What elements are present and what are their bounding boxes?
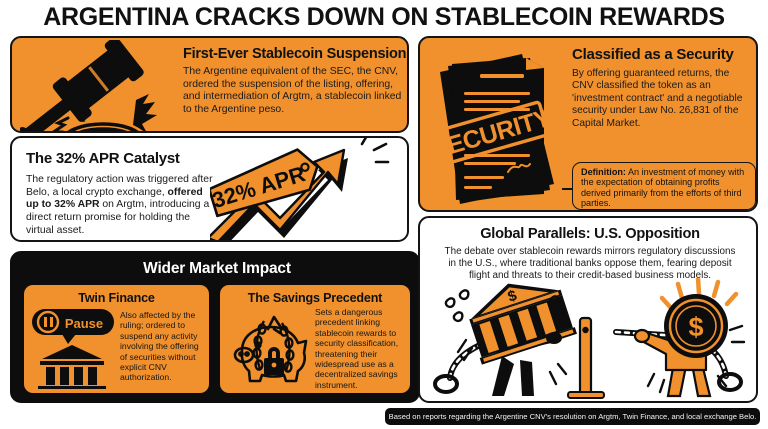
gavel-icon: AR$ [20,40,180,133]
svg-text:AR$: AR$ [86,131,120,133]
panel-body: The regulatory action was triggered afte… [26,174,216,238]
infographic-root: ARGENTINA CRACKS DOWN ON STABLECOIN REWA… [0,0,768,429]
svg-text:$: $ [506,287,520,306]
definition-text: Definition: An investment of money with … [581,167,749,209]
svg-text:$: $ [688,312,703,342]
definition-callout: Definition: An investment of money with … [572,162,756,210]
panel-body: The debate over stablecoin rewards mirro… [442,246,738,282]
bank-pause-icon: Pause [30,307,118,389]
rising-arrow-icon: 32% APR [210,138,409,242]
card-twin-finance: Twin Finance Pause [24,285,209,393]
section-heading: Wider Market Impact [12,260,420,278]
svg-text:Pause: Pause [65,316,103,331]
panel-global-parallels: Global Parallels: U.S. Opposition The de… [418,216,758,403]
panel-body: By offering guaranteed returns, the CNV … [572,68,752,130]
panel-heading: Global Parallels: U.S. Opposition [420,225,758,243]
panel-wider-market-impact: Wider Market Impact Twin Finance Pause [10,251,420,403]
svg-text:SECURITY: SECURITY [428,104,554,165]
card-body: Sets a dangerous precedent linking stabl… [315,307,405,390]
card-title: The Savings Precedent [220,291,410,305]
panel-classified-as-security: SECURITY Classified as a Security By off… [418,36,758,212]
footer-source-bar: Based on reports regarding the Argentine… [385,408,760,425]
definition-label: Definition: [581,167,626,177]
svg-text:32% APR: 32% APR [210,161,308,213]
panel-apr-catalyst: 32% APR The 32% APR Catalyst The regulat… [10,136,409,242]
chained-piggy-bank-icon [224,307,314,389]
panel-heading: The 32% APR Catalyst [26,150,180,168]
page-title: ARGENTINA CRACKS DOWN ON STABLECOIN REWA… [0,2,768,32]
panel-heading: Classified as a Security [572,46,734,64]
panel-first-ever-suspension: AR$ First-Ever Stablecoin Suspension The… [10,36,409,133]
tug-of-war-icon: $ [430,278,750,400]
security-document-icon: SECURITY [426,44,572,210]
panel-heading: First-Ever Stablecoin Suspension [183,46,406,63]
footer-text: Based on reports regarding the Argentine… [385,408,760,425]
card-savings-precedent: The Savings Precedent [220,285,410,393]
card-body: Also affected by the ruling; ordered to … [120,310,204,383]
panel-body: The Argentine equivalent of the SEC, the… [183,66,409,116]
card-title: Twin Finance [24,291,209,305]
